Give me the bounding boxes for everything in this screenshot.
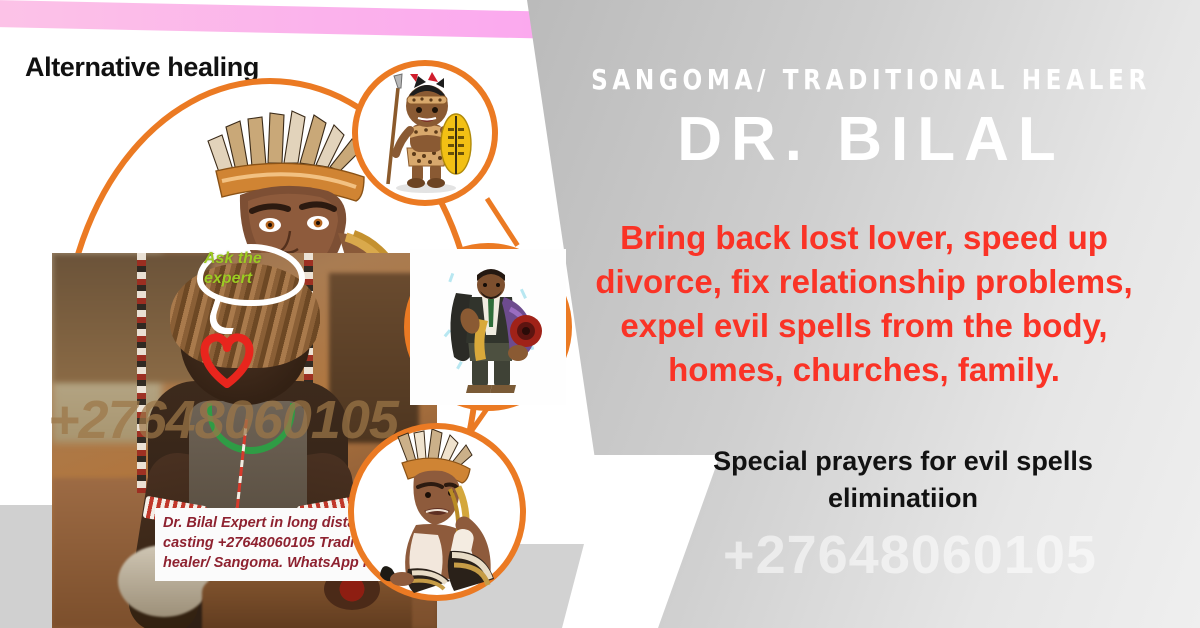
services-text: Bring back lost lover, speed up divorce,… <box>548 216 1180 392</box>
connector-1-2 <box>485 197 520 247</box>
special-prayers-text: Special prayers for evil spells eliminat… <box>620 443 1186 516</box>
circle-crouching-warrior <box>348 423 526 601</box>
special-line-2: eliminatiion <box>620 480 1186 517</box>
top-pink-bar <box>0 0 600 40</box>
services-line-2: divorce, fix relationship problems, <box>548 260 1180 304</box>
bottom-left-gray-block <box>0 505 53 628</box>
speech-bubble-label: Ask the expert <box>204 249 314 289</box>
circle-zulu-warrior-cartoon <box>352 60 498 206</box>
special-line-1: Special prayers for evil spells <box>620 443 1186 480</box>
circle-healer-with-cape <box>404 243 572 411</box>
red-heart-outline <box>196 330 258 388</box>
services-line-3: expel evil spells from the body, <box>548 304 1180 348</box>
page-title: Alternative healing <box>25 52 259 83</box>
services-line-4: homes, churches, family. <box>548 348 1180 392</box>
healer-name: DR. BILAL <box>566 104 1176 175</box>
poster-canvas: Alternative healing <box>0 0 1200 628</box>
services-line-1: Bring back lost lover, speed up <box>548 216 1180 260</box>
eyebrow-text: SANGOMA/ TRADITIONAL HEALER <box>590 63 1151 96</box>
panel-phone-watermark: +27648060105 <box>630 524 1190 586</box>
